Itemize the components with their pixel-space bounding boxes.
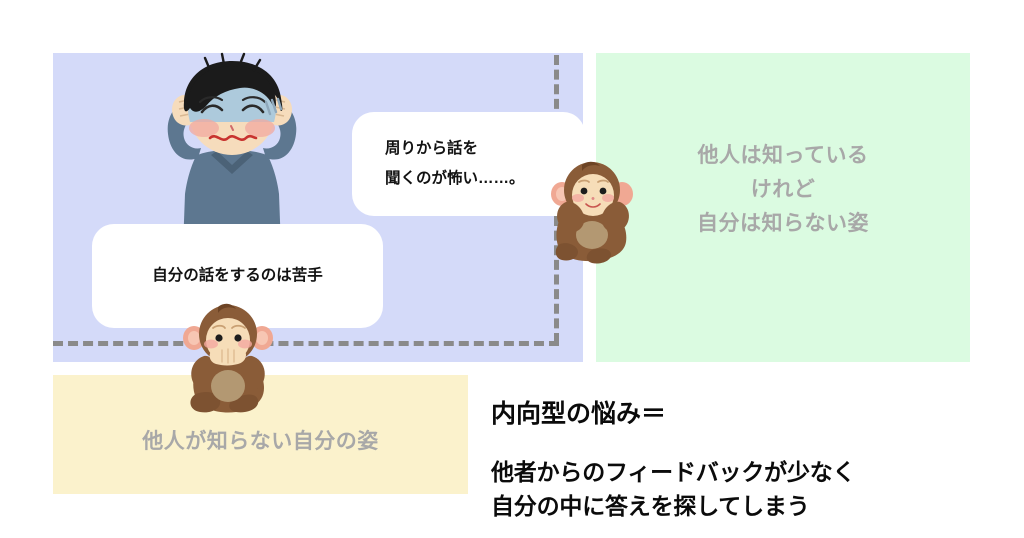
monkey-covering-mouth-illustration (182, 302, 274, 414)
conclusion-text-block: 内向型の悩み＝ 他者からのフィードバックが少なく 自分の中に答えを探してしまう (491, 373, 1011, 538)
speech-bubble-text: 自分の話をするのは苦手 (152, 261, 323, 291)
conclusion-body: 他者からのフィードバックが少なく 自分の中に答えを探してしまう (491, 456, 1011, 523)
quadrant-label-hidden-self: 他人が知らない自分の姿 (53, 425, 468, 459)
quadrant-label-blind-self: 他人は知っている けれど 自分は知らない姿 (596, 139, 970, 241)
divider-horizontal-dashed (53, 341, 559, 346)
speech-bubble-text: 周りから話を 聞くのが怖い……。 (385, 134, 525, 194)
worried-man-holding-head-illustration (148, 52, 316, 248)
conclusion-heading: 内向型の悩み＝ (491, 396, 1011, 433)
figure-canvas: 周りから話を 聞くのが怖い……。 自分の話をするのは苦手 (0, 0, 1024, 538)
